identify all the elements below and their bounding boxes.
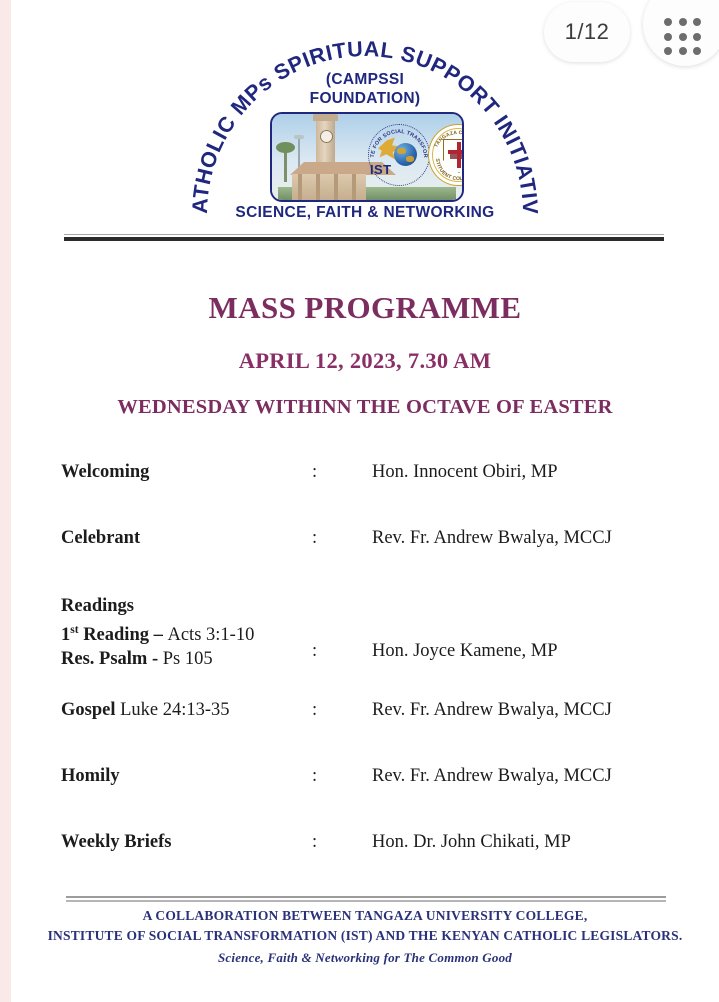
footer-divider-line1 — [66, 896, 666, 898]
first-reading-ordinal: st — [70, 624, 78, 636]
liturgical-season: WEDNESDAY WITHINN THE OCTAVE OF EASTER — [11, 396, 719, 419]
programme-value: Hon. Joyce Kamene, MP — [372, 641, 557, 662]
psalm-label: Res. Psalm - — [61, 649, 163, 669]
page-title: MASS PROGRAMME — [11, 290, 719, 326]
programme-label: Gospel Luke 24:13-35 — [61, 700, 230, 721]
logo-acronym: (CAMPSSI FOUNDATION) — [215, 70, 515, 108]
page-left-edge-strip — [0, 0, 11, 1002]
programme-separator: : — [312, 528, 317, 549]
building-pillar — [298, 174, 302, 200]
logo-tagline: SCIENCE, FAITH & NETWORKING — [215, 204, 515, 222]
programme-row-weekly-briefs: Weekly Briefs : Hon. Dr. John Chikati, M… — [11, 832, 719, 856]
programme-separator: : — [312, 832, 317, 853]
grid-dot — [693, 47, 701, 55]
psalm-line: Res. Psalm - Ps 105 — [61, 647, 254, 671]
mass-programme-document: CATHOLIC MPs SPIRITUAL SUPPORT INITIATIV… — [11, 0, 719, 1002]
readings-heading: Readings — [61, 594, 254, 618]
programme-label: Weekly Briefs — [61, 832, 171, 853]
ist-acronym-label: IST — [370, 162, 391, 177]
first-reading-reference: Acts 3:1-10 — [167, 625, 254, 645]
first-reading-line: 1st Reading – Acts 3:1-10 — [61, 618, 254, 647]
grid-dot — [693, 33, 701, 41]
programme-label: Homily — [61, 766, 120, 787]
header-divider-thick — [64, 237, 664, 241]
document-page: CATHOLIC MPs SPIRITUAL SUPPORT INITIATIV… — [0, 0, 719, 1002]
programme-separator: : — [312, 462, 317, 483]
cross-icon — [457, 142, 461, 168]
footer-divider — [66, 896, 666, 902]
building-pillar — [316, 174, 320, 200]
grid-dot — [679, 18, 687, 26]
document-headings: MASS PROGRAMME APRIL 12, 2023, 7.30 AM W… — [11, 290, 719, 419]
building-pillar — [352, 174, 356, 200]
programme-label: Celebrant — [61, 528, 140, 549]
page-indicator[interactable]: 1/12 — [544, 2, 630, 62]
grid-dot — [693, 18, 701, 26]
header-divider-thin — [64, 234, 664, 235]
programme-separator: : — [312, 700, 317, 721]
footer-motto: Science, Faith & Networking for The Comm… — [11, 950, 719, 966]
logo-acronym-line1: (CAMPSSI — [215, 70, 515, 89]
grid-dot — [679, 47, 687, 55]
readings-stack: Readings 1st Reading – Acts 3:1-10 Res. … — [61, 594, 254, 671]
gospel-reference: Luke 24:13-35 — [115, 700, 229, 720]
header-divider — [64, 234, 664, 241]
programme-row-welcoming: Welcoming : Hon. Innocent Obiri, MP — [11, 462, 719, 486]
programme-list: Welcoming : Hon. Innocent Obiri, MP Cele… — [11, 462, 719, 898]
grid-dot — [664, 18, 672, 26]
grid-dot — [664, 47, 672, 55]
programme-separator: : — [312, 766, 317, 787]
programme-row-gospel: Gospel Luke 24:13-35 : Rev. Fr. Andrew B… — [11, 700, 719, 724]
logo-acronym-line2: FOUNDATION) — [215, 89, 515, 108]
programme-row-celebrant: Celebrant : Rev. Fr. Andrew Bwalya, MCCJ — [11, 528, 719, 552]
grid-dot — [679, 33, 687, 41]
cross-icon-bar — [448, 150, 464, 154]
first-reading-number: 1 — [61, 625, 70, 645]
globe-icon — [394, 143, 417, 166]
tangaza-crest-icon: TANGAZA COLLEGE CONSTITUENT COLLEGE OF C… — [428, 124, 464, 186]
psalm-reference: Ps 105 — [163, 649, 213, 669]
programme-value: Rev. Fr. Andrew Bwalya, MCCJ — [372, 700, 612, 721]
grid-dot — [664, 33, 672, 41]
programme-label: Welcoming — [61, 462, 149, 483]
readings-heading-text: Readings — [61, 596, 134, 616]
programme-value: Hon. Dr. John Chikati, MP — [372, 832, 571, 853]
document-footer: A COLLABORATION BETWEEN TANGAZA UNIVERSI… — [11, 908, 719, 966]
programme-value: Hon. Innocent Obiri, MP — [372, 462, 558, 483]
footer-divider-line2 — [66, 900, 666, 902]
mass-date-time: APRIL 12, 2023, 7.30 AM — [11, 348, 719, 374]
programme-row-readings: Readings 1st Reading – Acts 3:1-10 Res. … — [11, 594, 719, 664]
first-reading-word: Reading – — [79, 625, 168, 645]
programme-value: Rev. Fr. Andrew Bwalya, MCCJ — [372, 766, 612, 787]
logo-photo-panel: INSTITUTE FOR SOCIAL TRANSFORMATION IST — [270, 112, 464, 202]
programme-row-homily: Homily : Rev. Fr. Andrew Bwalya, MCCJ — [11, 766, 719, 790]
programme-separator: : — [312, 641, 317, 662]
programme-value: Rev. Fr. Andrew Bwalya, MCCJ — [372, 528, 612, 549]
gospel-label-text: Gospel — [61, 700, 115, 720]
footer-line-2: INSTITUTE OF SOCIAL TRANSFORMATION (IST)… — [11, 928, 719, 944]
building-pillar — [334, 174, 338, 200]
grid-dots-icon — [664, 18, 704, 58]
palm-tree-icon — [284, 148, 287, 182]
footer-line-1: A COLLABORATION BETWEEN TANGAZA UNIVERSI… — [11, 908, 719, 924]
ist-emblem-icon: INSTITUTE FOR SOCIAL TRANSFORMATION IST — [368, 124, 430, 186]
